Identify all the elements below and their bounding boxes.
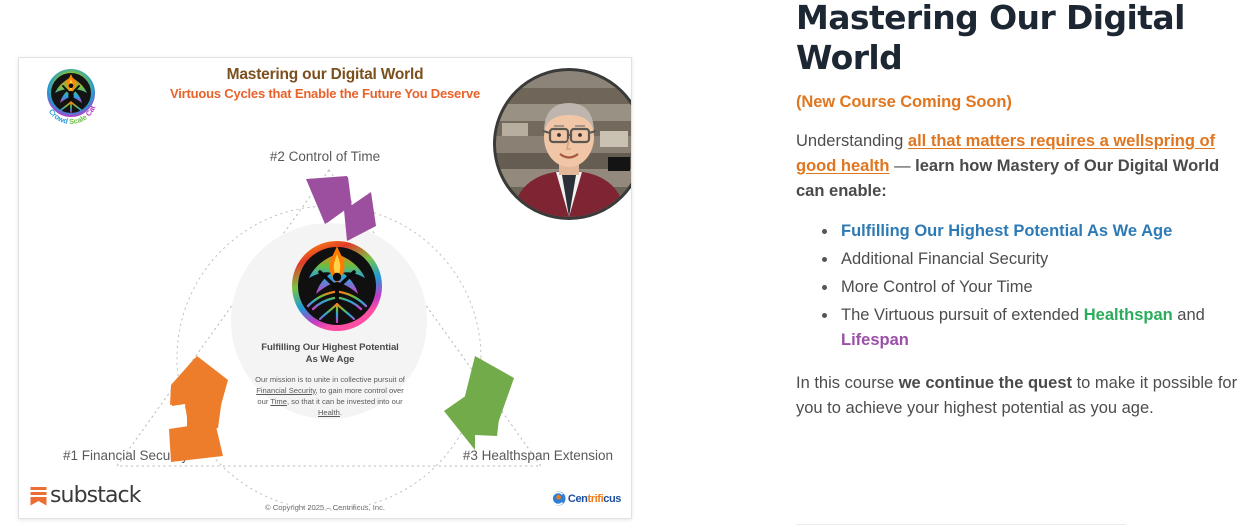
presenter-headshot-avatar bbox=[493, 68, 632, 220]
mission-mid2: , so that it can be invested into our bbox=[287, 397, 403, 406]
center-heading-line1: Fulfilling Our Highest Potential bbox=[261, 342, 399, 353]
node-label-financial-security: #1 Financial Security bbox=[63, 448, 188, 463]
mission-link-time[interactable]: Time bbox=[270, 397, 287, 406]
centrificus-wordmark: Centrificus bbox=[568, 493, 621, 505]
mission-pre: Our mission is to unite in collective pu… bbox=[255, 375, 405, 384]
slide-column: Mastering our Digital World Virtuous Cyc… bbox=[0, 0, 780, 528]
benefits-list: Fulfilling Our Highest Potential As We A… bbox=[796, 219, 1245, 353]
section-divider bbox=[796, 524, 1126, 525]
benefit-3-healthspan: Healthspan bbox=[1084, 306, 1173, 324]
centrificus-part1: Cen bbox=[568, 493, 588, 505]
benefit-2-label: More Control of Your Time bbox=[841, 278, 1033, 296]
course-description-panel: Mastering Our Digital World (New Course … bbox=[780, 0, 1259, 528]
mission-link-financial-security[interactable]: Financial Security bbox=[256, 386, 315, 395]
closing-paragraph: In this course we continue the quest to … bbox=[796, 371, 1245, 421]
intro-paragraph: Understanding all that matters requires … bbox=[796, 129, 1245, 204]
node-label-control-of-time: #2 Control of Time bbox=[270, 149, 380, 164]
benefit-3-label: The Virtuous pursuit of extended bbox=[841, 306, 1084, 324]
intro-dash: — bbox=[890, 157, 916, 175]
mission-end: . bbox=[340, 408, 342, 417]
centrificus-part3: cus bbox=[603, 493, 621, 505]
benefit-3-lifespan: Lifespan bbox=[841, 331, 909, 349]
mission-link-health[interactable]: Health bbox=[318, 408, 340, 417]
crowd-scale-catalyst-logo-icon: Crowd Scale Catalyst bbox=[40, 66, 102, 128]
list-item: Fulfilling Our Highest Potential As We A… bbox=[838, 219, 1245, 244]
center-emblem-icon bbox=[287, 234, 387, 334]
center-text-block: Fulfilling Our Highest Potential As We A… bbox=[251, 342, 409, 418]
benefit-3-conjunction: and bbox=[1173, 306, 1205, 324]
centrificus-icon bbox=[551, 491, 566, 506]
centrificus-logo[interactable]: Centrificus bbox=[551, 491, 621, 506]
benefit-1-label: Additional Financial Security bbox=[841, 250, 1048, 268]
center-mission-statement: Our mission is to unite in collective pu… bbox=[251, 374, 409, 418]
node-label-healthspan-extension: #3 Healthspan Extension bbox=[463, 448, 613, 463]
closing-bold: we continue the quest bbox=[899, 374, 1072, 392]
list-item: Additional Financial Security bbox=[838, 247, 1245, 272]
center-heading-line2: As We Age bbox=[306, 354, 355, 365]
intro-prefix: Understanding bbox=[796, 132, 908, 150]
benefit-0-label[interactable]: Fulfilling Our Highest Potential As We A… bbox=[841, 222, 1172, 240]
slide-card[interactable]: Mastering our Digital World Virtuous Cyc… bbox=[18, 57, 632, 519]
copyright-text: © Copyright 2025 – Centrificus, Inc. bbox=[19, 503, 631, 512]
page-root: Mastering our Digital World Virtuous Cyc… bbox=[0, 0, 1259, 528]
list-item: More Control of Your Time bbox=[838, 275, 1245, 300]
closing-prefix: In this course bbox=[796, 374, 899, 392]
centrificus-part2: trifi bbox=[588, 493, 604, 505]
course-status-kicker: (New Course Coming Soon) bbox=[796, 93, 1245, 112]
page-title: Mastering Our Digital World bbox=[796, 0, 1196, 79]
list-item: The Virtuous pursuit of extended Healths… bbox=[838, 303, 1245, 353]
